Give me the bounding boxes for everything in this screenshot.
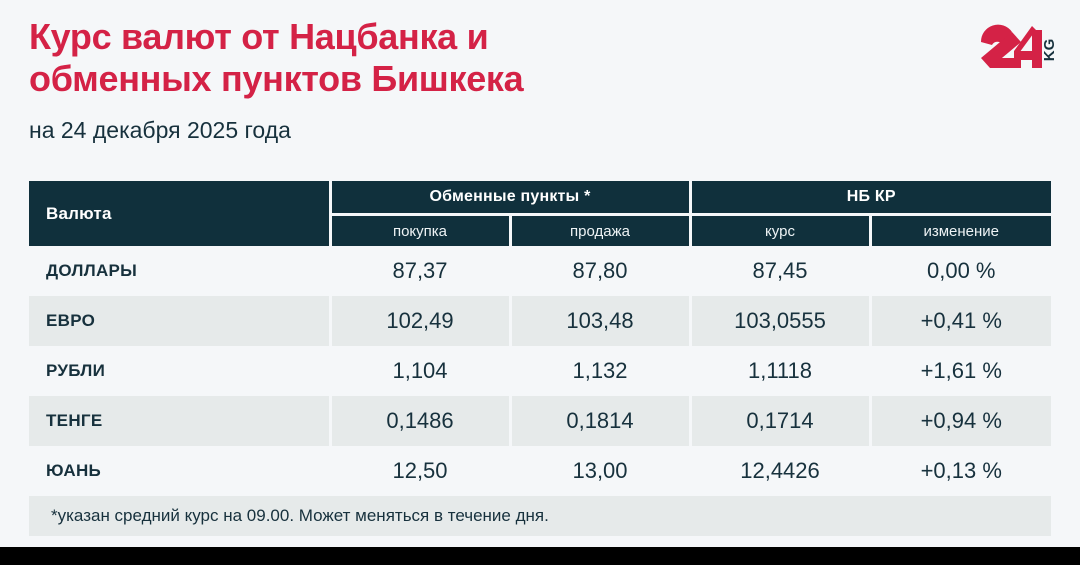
table-body: ДОЛЛАРЫ 87,37 87,80 87,45 0,00 % ЕВРО 10… xyxy=(29,246,1051,536)
cell-rate: 1,1118 xyxy=(690,346,870,396)
cell-rate: 0,1714 xyxy=(690,396,870,446)
cell-sell: 103,48 xyxy=(510,296,690,346)
cell-buy: 1,104 xyxy=(330,346,510,396)
cell-sell: 0,1814 xyxy=(510,396,690,446)
cell-change: 0,00 % xyxy=(870,246,1051,296)
cell-currency: ЕВРО xyxy=(29,296,330,346)
infographic-page: Курс валют от Нацбанка и обменных пункто… xyxy=(0,0,1080,565)
col-header-currency: Валюта xyxy=(29,181,330,246)
bottom-black-bar xyxy=(0,547,1080,565)
cell-buy: 0,1486 xyxy=(330,396,510,446)
col-header-buy: покупка xyxy=(330,215,510,247)
cell-change: +1,61 % xyxy=(870,346,1051,396)
table-head-row-groups: Валюта Обменные пункты * НБ КР xyxy=(29,181,1051,215)
cell-change: +0,94 % xyxy=(870,396,1051,446)
col-group-nbkr: НБ КР xyxy=(690,181,1051,215)
cell-rate: 12,4426 xyxy=(690,446,870,496)
cell-sell: 13,00 xyxy=(510,446,690,496)
rates-table-container: Валюта Обменные пункты * НБ КР покупка п… xyxy=(29,181,1051,536)
table-row: ЮАНЬ 12,50 13,00 12,4426 +0,13 % xyxy=(29,446,1051,496)
cell-rate: 103,0555 xyxy=(690,296,870,346)
col-header-sell: продажа xyxy=(510,215,690,247)
cell-buy: 102,49 xyxy=(330,296,510,346)
page-subtitle: на 24 декабря 2025 года xyxy=(29,118,959,143)
table-row: РУБЛИ 1,104 1,132 1,1118 +1,61 % xyxy=(29,346,1051,396)
col-header-rate: курс xyxy=(690,215,870,247)
table-row: ТЕНГЕ 0,1486 0,1814 0,1714 +0,94 % xyxy=(29,396,1051,446)
cell-change: +0,13 % xyxy=(870,446,1051,496)
logo-kg-text: KG xyxy=(1041,39,1058,62)
col-header-change: изменение xyxy=(870,215,1051,247)
cell-sell: 1,132 xyxy=(510,346,690,396)
brand-logo: KG xyxy=(976,20,1062,76)
currency-rates-table: Валюта Обменные пункты * НБ КР покупка п… xyxy=(29,181,1051,536)
col-group-exchange-points: Обменные пункты * xyxy=(330,181,690,215)
cell-currency: РУБЛИ xyxy=(29,346,330,396)
page-title: Курс валют от Нацбанка и обменных пункто… xyxy=(29,16,959,100)
cell-rate: 87,45 xyxy=(690,246,870,296)
table-head: Валюта Обменные пункты * НБ КР покупка п… xyxy=(29,181,1051,246)
table-footnote-row: *указан средний курс на 09.00. Может мен… xyxy=(29,496,1051,536)
table-row: ЕВРО 102,49 103,48 103,0555 +0,41 % xyxy=(29,296,1051,346)
cell-sell: 87,80 xyxy=(510,246,690,296)
cell-change: +0,41 % xyxy=(870,296,1051,346)
table-footnote: *указан средний курс на 09.00. Может мен… xyxy=(29,496,1051,536)
cell-buy: 12,50 xyxy=(330,446,510,496)
header-block: Курс валют от Нацбанка и обменных пункто… xyxy=(29,16,959,143)
cell-currency: ДОЛЛАРЫ xyxy=(29,246,330,296)
logo-24-mark xyxy=(981,25,1042,68)
cell-currency: ТЕНГЕ xyxy=(29,396,330,446)
table-row: ДОЛЛАРЫ 87,37 87,80 87,45 0,00 % xyxy=(29,246,1051,296)
cell-currency: ЮАНЬ xyxy=(29,446,330,496)
cell-buy: 87,37 xyxy=(330,246,510,296)
